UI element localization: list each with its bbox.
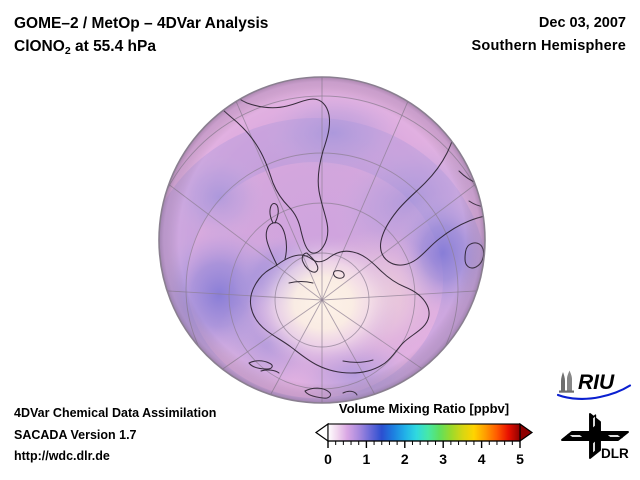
- dlr-logo: DLR: [560, 412, 634, 462]
- colorbar-tick-label: 4: [478, 451, 486, 467]
- footer-text-block: 4DVar Chemical Data Assimilation SACADA …: [14, 403, 216, 468]
- colorbar-cap-max: [520, 424, 532, 441]
- colorbar-tick-label: 5: [516, 451, 524, 467]
- colorbar-tick-label: 0: [324, 451, 332, 467]
- visualization-page: GOME–2 / MetOp – 4DVar Analysis ClONO2 a…: [0, 0, 640, 480]
- region-label: Southern Hemisphere: [472, 35, 626, 58]
- colorbar-svg: 012345: [310, 421, 538, 473]
- colorbar-title: Volume Mixing Ratio [ppbv]: [310, 401, 538, 416]
- header-left: GOME–2 / MetOp – 4DVar Analysis ClONO2 a…: [14, 12, 268, 63]
- riu-wordmark: RIU: [578, 371, 615, 394]
- species-name: ClONO: [14, 38, 65, 55]
- footer-line-project: 4DVar Chemical Data Assimilation: [14, 403, 216, 425]
- pressure-level: at 55.4 hPa: [71, 38, 156, 55]
- page-title: GOME–2 / MetOp – 4DVar Analysis: [14, 12, 268, 35]
- dlr-logo-svg: DLR: [560, 412, 634, 462]
- dlr-wordmark: DLR: [601, 446, 629, 461]
- colorbar-gradient: [328, 424, 520, 441]
- riu-towers-icon: [559, 371, 574, 393]
- riu-logo-svg: RIU: [556, 370, 634, 400]
- colorbar-ticks: [328, 441, 520, 448]
- colorbar-cap-min: [316, 424, 328, 441]
- footer-line-version: SACADA Version 1.7: [14, 425, 216, 447]
- colorbar-tick-label: 3: [439, 451, 447, 467]
- footer-line-url[interactable]: http://wdc.dlr.de: [14, 446, 216, 468]
- globe-limb-shading: [159, 77, 485, 403]
- riu-logo: RIU: [556, 370, 634, 400]
- date-label: Dec 03, 2007: [472, 12, 626, 35]
- globe-map: [157, 75, 487, 405]
- globe-svg: [157, 75, 487, 405]
- colorbar: Volume Mixing Ratio [ppbv] 012345: [310, 401, 538, 473]
- colorbar-tick-label: 2: [401, 451, 409, 467]
- species-level-label: ClONO2 at 55.4 hPa: [14, 35, 268, 63]
- header-right: Dec 03, 2007 Southern Hemisphere: [472, 12, 626, 58]
- colorbar-tick-label: 1: [363, 451, 371, 467]
- colorbar-tick-labels: 012345: [324, 451, 524, 467]
